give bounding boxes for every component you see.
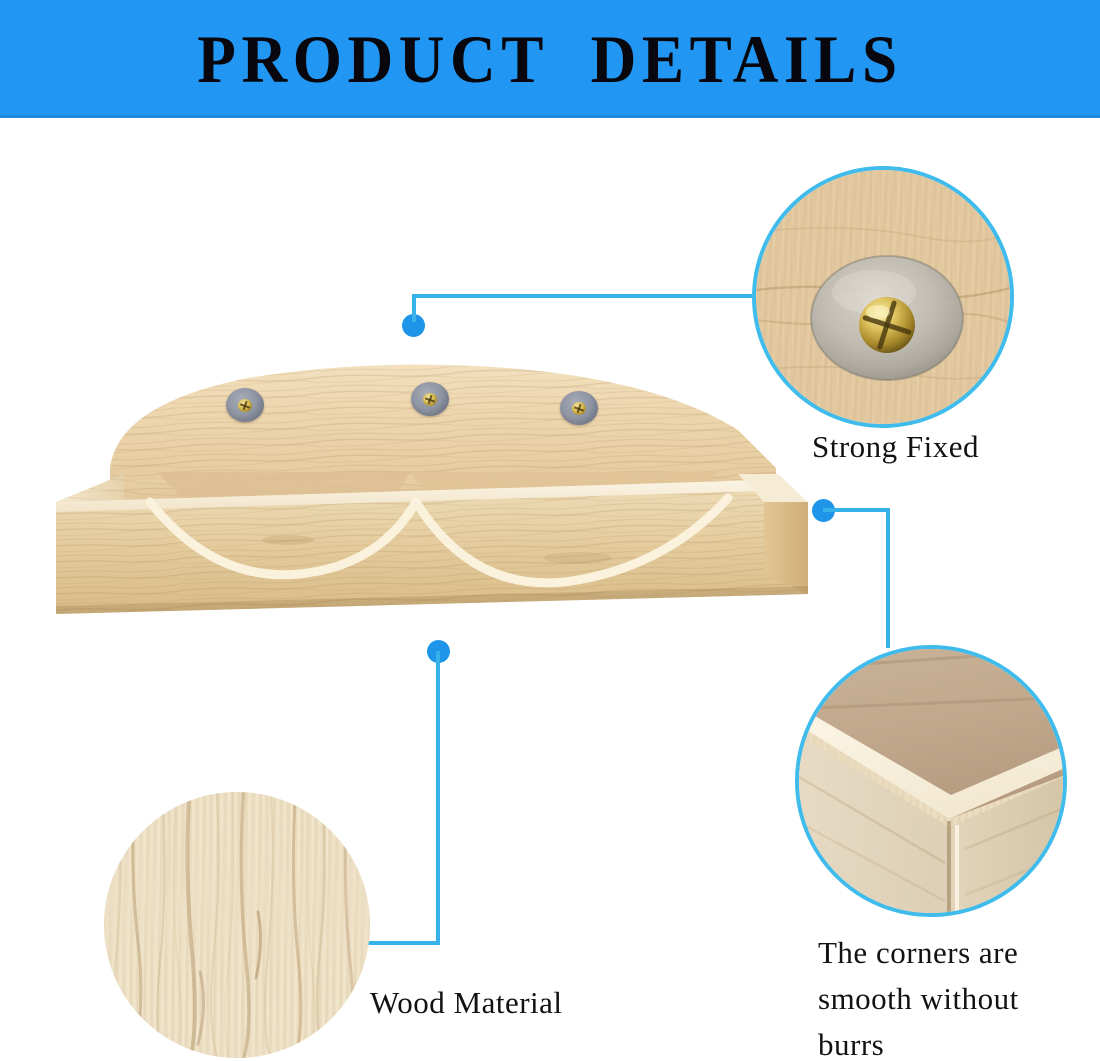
screw-1 — [238, 399, 252, 412]
screw-2 — [423, 393, 437, 406]
washer-2 — [411, 382, 449, 416]
callout-connector-wood-material — [436, 651, 440, 943]
callout-connector-wood-material-arm — [366, 941, 440, 945]
callout-image-wood-material — [104, 792, 370, 1058]
callout-label-smooth-corners: The corners are smooth without burrs — [818, 930, 1098, 1061]
washer-3 — [560, 391, 598, 425]
callout-connector-strong-fixed-stem — [412, 296, 416, 322]
page-title: PRODUCT DETAILS — [39, 20, 1062, 98]
callout-label-wood-material: Wood Material — [370, 983, 660, 1023]
callout-connector-smooth-corners — [886, 508, 890, 648]
corner-detail — [799, 649, 1067, 917]
wood-grain-detail — [104, 792, 370, 1058]
callout-label-strong-fixed: Strong Fixed — [812, 427, 1072, 467]
strong-fixed-detail — [756, 170, 1014, 428]
washer-1 — [226, 388, 264, 422]
callout-connector-strong-fixed — [412, 294, 754, 298]
header-banner: PRODUCT DETAILS — [0, 0, 1100, 118]
callout-connector-smooth-corners-arm — [823, 508, 890, 512]
callout-image-smooth-corners — [795, 645, 1067, 917]
product-details-infographic: PRODUCT DETAILS — [0, 0, 1100, 1061]
callout-image-strong-fixed — [752, 166, 1014, 428]
product-photo — [38, 352, 828, 637]
screw-3 — [572, 402, 586, 415]
